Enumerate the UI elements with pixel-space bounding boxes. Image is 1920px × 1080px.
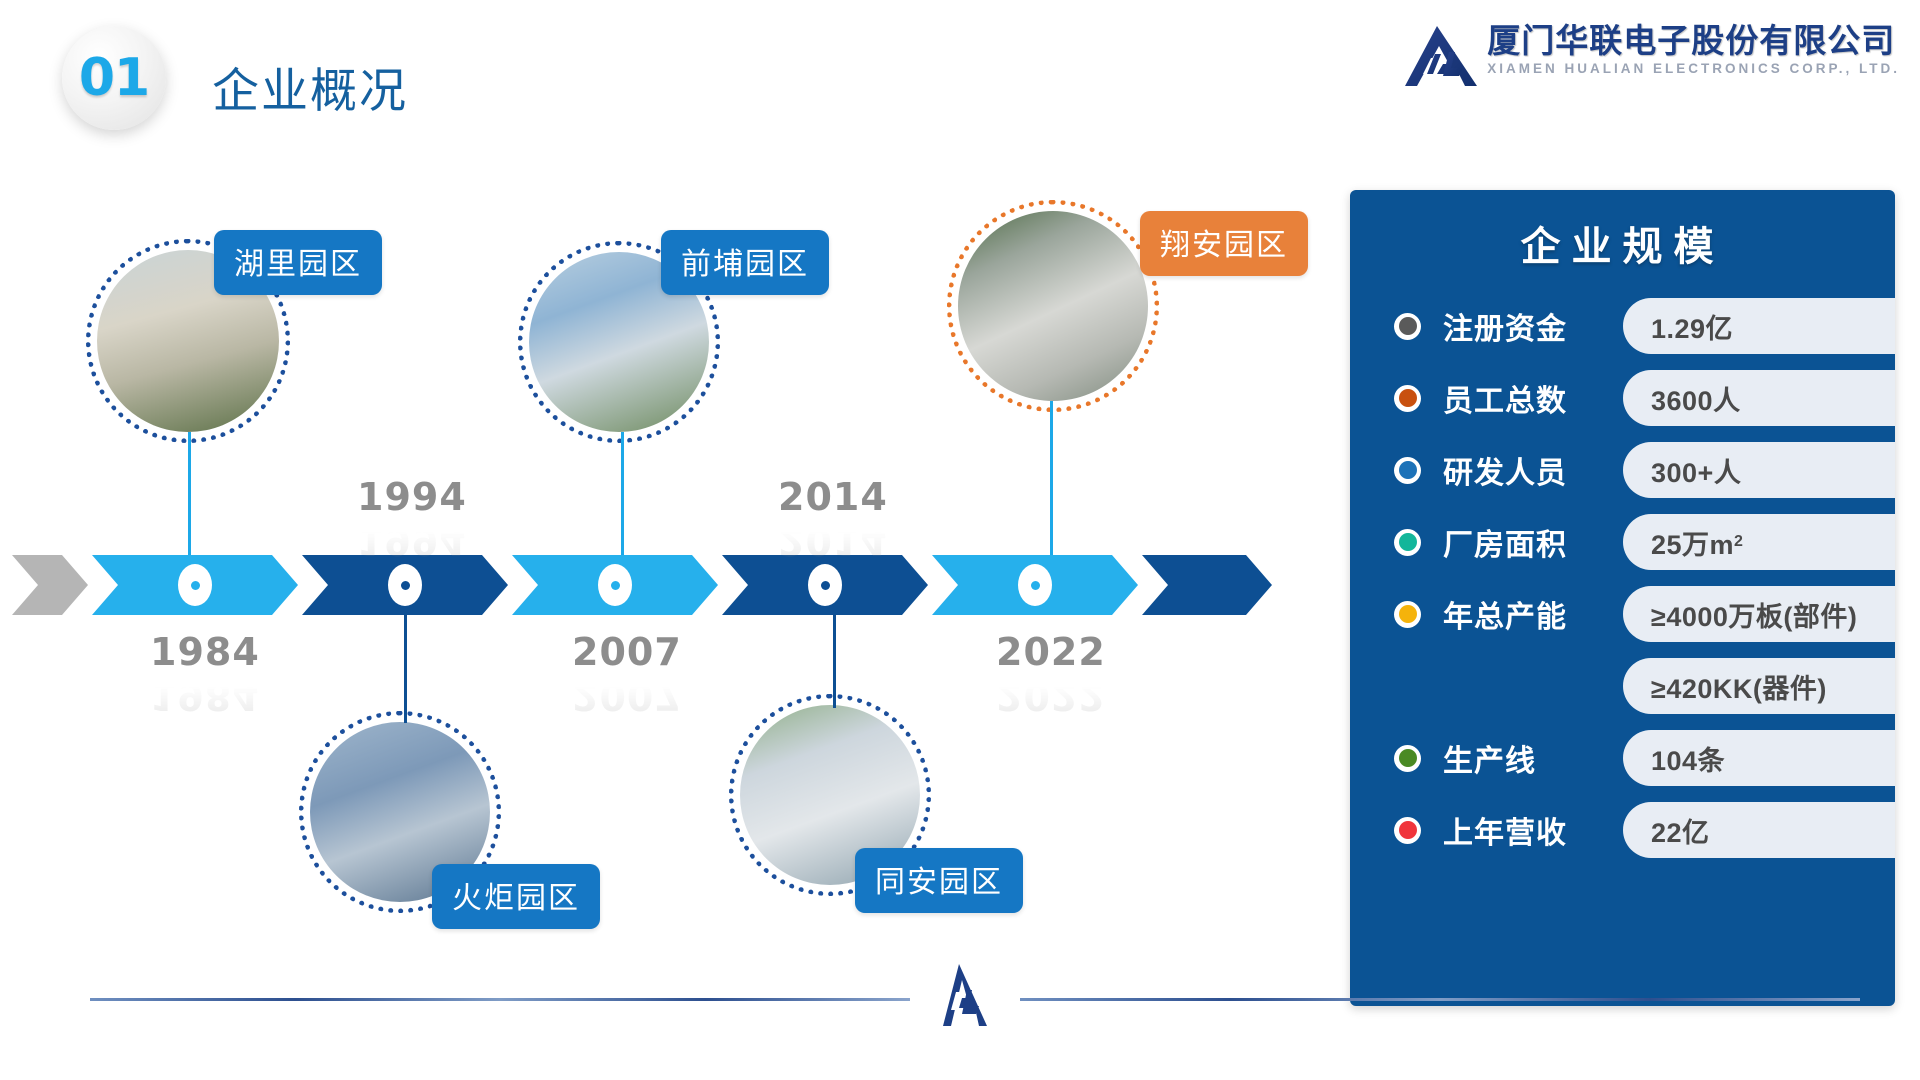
row-label-production-lines: 生产线 xyxy=(1443,736,1623,780)
row-value-annual-capacity-boards: ≥4000万板(部件) xyxy=(1623,586,1895,642)
bullet-icon-rd-staff xyxy=(1394,457,1421,484)
row-value-production-lines: 104条 xyxy=(1623,730,1895,786)
panel-row-plant-area: 厂房面积 25万m2 xyxy=(1350,514,1895,570)
row-label-rd-staff: 研发人员 xyxy=(1443,448,1623,492)
panel-rows: 注册资金 1.29亿 员工总数 3600人 研发人员 300+人 厂房面积 25… xyxy=(1350,298,1895,874)
bullet-icon-registered-capital xyxy=(1394,313,1421,340)
timeline-dot-2007 xyxy=(598,564,632,606)
timeline-year-2022: 2022 2022 xyxy=(996,630,1106,718)
slide-canvas: 01 企业概况 厦门华联电子股份有限公司 XIAMEN HUALIAN ELEC… xyxy=(0,0,1920,1080)
panel-row-registered-capital: 注册资金 1.29亿 xyxy=(1350,298,1895,354)
year-reflection-1994: 1994 xyxy=(357,519,467,563)
year-reflection-2007: 2007 xyxy=(572,674,682,718)
timeline-dot-1984 xyxy=(178,564,212,606)
panel-row-last-year-revenue: 上年营收 22亿 xyxy=(1350,802,1895,858)
hualian-hl-logo-icon-footer xyxy=(929,964,991,1030)
row-value-last-year-revenue: 22亿 xyxy=(1623,802,1895,858)
page-title: 企业概况 xyxy=(212,52,408,121)
row-value-annual-capacity-components: ≥420KK(器件) xyxy=(1623,658,1895,714)
row-value-plant-area: 25万m2 xyxy=(1623,514,1895,570)
panel-row-production-lines: 生产线 104条 xyxy=(1350,730,1895,786)
timeline-dot-2014 xyxy=(808,564,842,606)
bullet-icon-production-lines xyxy=(1394,745,1421,772)
panel-title: 企业规模 xyxy=(1350,190,1895,272)
timeline-segment-2007[interactable] xyxy=(512,555,718,615)
timeline-year-1994: 1994 1994 xyxy=(357,475,467,563)
timeline-dot-2022 xyxy=(1018,564,1052,606)
plant-area-unit-sup: 2 xyxy=(1734,533,1743,551)
milestone-label-tongan: 同安园区 xyxy=(855,848,1023,913)
connector-torch xyxy=(404,613,407,723)
timeline-segment-start xyxy=(12,555,88,615)
plant-area-number: 25万m xyxy=(1651,523,1734,562)
panel-row-employees: 员工总数 3600人 xyxy=(1350,370,1895,426)
logo-company-name-en: XIAMEN HUALIAN ELECTRONICS CORP., LTD. xyxy=(1487,61,1900,76)
bullet-icon-employees xyxy=(1394,385,1421,412)
year-text-1984: 1984 xyxy=(150,630,260,674)
year-text-2007: 2007 xyxy=(572,630,682,674)
year-reflection-2014: 2014 xyxy=(778,519,888,563)
timeline-bar xyxy=(0,555,1290,615)
milestone-label-qianpu: 前埔园区 xyxy=(661,230,829,295)
timeline-segment-end xyxy=(1142,555,1272,615)
row-value-registered-capital: 1.29亿 xyxy=(1623,298,1895,354)
row-value-rd-staff: 300+人 xyxy=(1623,442,1895,498)
connector-huli xyxy=(188,432,191,557)
row-value-employees: 3600人 xyxy=(1623,370,1895,426)
year-text-2014: 2014 xyxy=(778,475,888,519)
milestone-label-torch: 火炬园区 xyxy=(432,864,600,929)
section-number: 01 xyxy=(79,48,149,108)
photo-ring-xiangan xyxy=(947,200,1159,412)
timeline-year-2014: 2014 2014 xyxy=(778,475,888,563)
bullet-icon-last-year-revenue xyxy=(1394,817,1421,844)
bullet-icon-plant-area xyxy=(1394,529,1421,556)
year-text-1994: 1994 xyxy=(357,475,467,519)
timeline-segment-2022[interactable] xyxy=(932,555,1138,615)
panel-row-annual-capacity-components: ≥420KK(器件) xyxy=(1350,658,1895,714)
milestone-label-huli: 湖里园区 xyxy=(214,230,382,295)
panel-row-rd-staff: 研发人员 300+人 xyxy=(1350,442,1895,498)
row-label-employees: 员工总数 xyxy=(1443,376,1623,420)
logo-company-name-cn: 厦门华联电子股份有限公司 xyxy=(1487,24,1900,59)
timeline-year-2007: 2007 2007 xyxy=(572,630,682,718)
enterprise-scale-panel: 企业规模 注册资金 1.29亿 员工总数 3600人 研发人员 300+人 厂房… xyxy=(1350,190,1895,1006)
row-label-last-year-revenue: 上年营收 xyxy=(1443,808,1623,852)
footer-rule-right xyxy=(1020,998,1860,1001)
timeline-year-1984: 1984 1984 xyxy=(150,630,260,718)
year-reflection-1984: 1984 xyxy=(150,674,260,718)
row-label-registered-capital: 注册资金 xyxy=(1443,304,1623,348)
timeline-segment-1994[interactable] xyxy=(302,555,508,615)
year-reflection-2022: 2022 xyxy=(996,674,1106,718)
panel-row-annual-capacity: 年总产能 ≥4000万板(部件) xyxy=(1350,586,1895,642)
connector-xiangan xyxy=(1050,401,1053,557)
connector-qianpu xyxy=(621,432,624,557)
connector-tongan xyxy=(833,613,836,708)
footer-rule-left xyxy=(90,998,910,1001)
milestone-label-xiangan: 翔安园区 xyxy=(1140,211,1308,276)
timeline-segment-2014[interactable] xyxy=(722,555,928,615)
company-logo: 厦门华联电子股份有限公司 XIAMEN HUALIAN ELECTRONICS … xyxy=(1397,24,1900,90)
row-label-annual-capacity: 年总产能 xyxy=(1443,592,1623,636)
bullet-icon-annual-capacity xyxy=(1394,601,1421,628)
timeline-dot-1994 xyxy=(388,564,422,606)
section-number-badge: 01 xyxy=(62,26,166,130)
year-text-2022: 2022 xyxy=(996,630,1106,674)
slide-footer xyxy=(0,968,1920,1038)
timeline-segment-1984[interactable] xyxy=(92,555,298,615)
hualian-hl-logo-icon xyxy=(1397,24,1481,90)
row-label-plant-area: 厂房面积 xyxy=(1443,520,1623,564)
